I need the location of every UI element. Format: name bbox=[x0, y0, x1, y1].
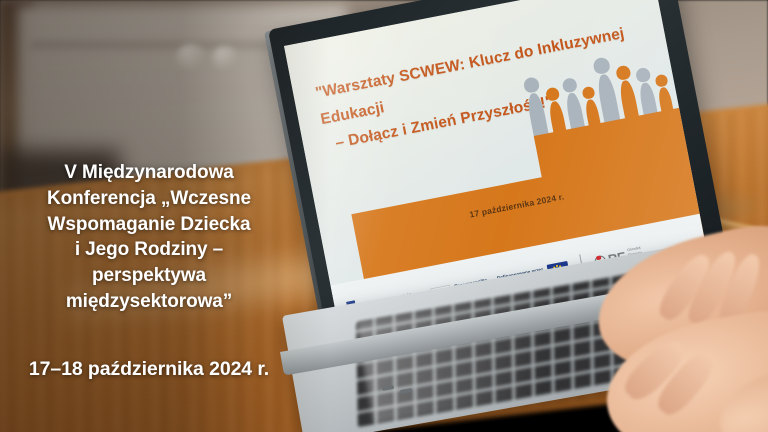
conference-title-line-2: Konferencja „Wczesne bbox=[4, 186, 294, 212]
conference-title-line-4: i Jego Rodziny – bbox=[4, 237, 294, 263]
conference-title-line-3: Wspomaganie Dziecka bbox=[4, 212, 294, 238]
conference-title-line-5: perspektywa bbox=[4, 263, 294, 289]
conference-title-line-6: międzysektorowa” bbox=[4, 289, 294, 315]
conference-title-line-1: V Międzynarodowa bbox=[4, 160, 294, 186]
conference-title: V Międzynarodowa Konferencja „Wczesne Ws… bbox=[4, 160, 294, 315]
conference-date: 17–18 października 2024 r. bbox=[4, 358, 294, 381]
slide-image: "Warsztaty SCWEW: Klucz do Inkluzywnej E… bbox=[0, 0, 768, 432]
